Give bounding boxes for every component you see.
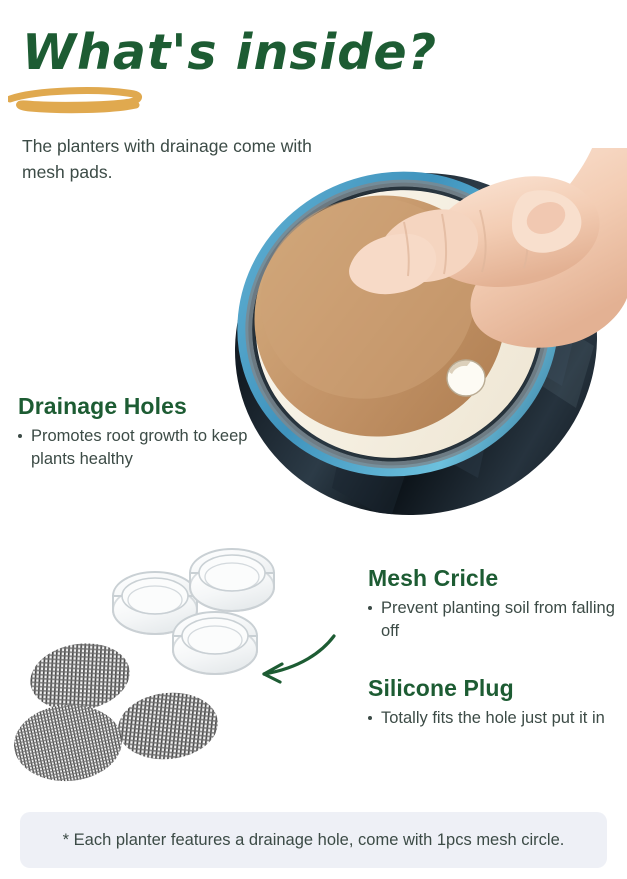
planter-photo — [228, 148, 627, 540]
list-item: Prevent planting soil from falling off — [368, 597, 618, 643]
section-heading: Drainage Holes — [18, 391, 248, 421]
bullet-list: Promotes root growth to keep plants heal… — [18, 425, 248, 471]
page-title: What's inside? — [22, 22, 437, 84]
footer-note-text: * Each planter features a drainage hole,… — [63, 829, 565, 852]
section-drainage-holes: Drainage Holes Promotes root growth to k… — [18, 391, 248, 471]
bullet-dot-icon — [368, 716, 372, 720]
infographic-page: What's inside? The planters with drainag… — [0, 0, 627, 879]
bullet-dot-icon — [368, 606, 372, 610]
footer-note: * Each planter features a drainage hole,… — [20, 812, 607, 868]
bullet-text: Prevent planting soil from falling off — [381, 599, 615, 640]
bullet-text: Promotes root growth to keep plants heal… — [31, 427, 247, 468]
curved-arrow-icon — [248, 620, 348, 690]
bullet-dot-icon — [18, 434, 22, 438]
section-heading: Mesh Cricle — [368, 563, 618, 593]
list-item: Totally fits the hole just put it in — [368, 707, 618, 730]
bullet-list: Totally fits the hole just put it in — [368, 707, 618, 730]
list-item: Promotes root growth to keep plants heal… — [18, 425, 248, 471]
bullet-list: Prevent planting soil from falling off — [368, 597, 618, 643]
title-underline-swoosh — [8, 86, 148, 114]
bullet-text: Totally fits the hole just put it in — [381, 709, 605, 727]
section-mesh-circle: Mesh Cricle Prevent planting soil from f… — [368, 563, 618, 643]
planter-illustration — [228, 148, 627, 540]
section-heading: Silicone Plug — [368, 673, 618, 703]
section-silicone-plug: Silicone Plug Totally fits the hole just… — [368, 673, 618, 730]
